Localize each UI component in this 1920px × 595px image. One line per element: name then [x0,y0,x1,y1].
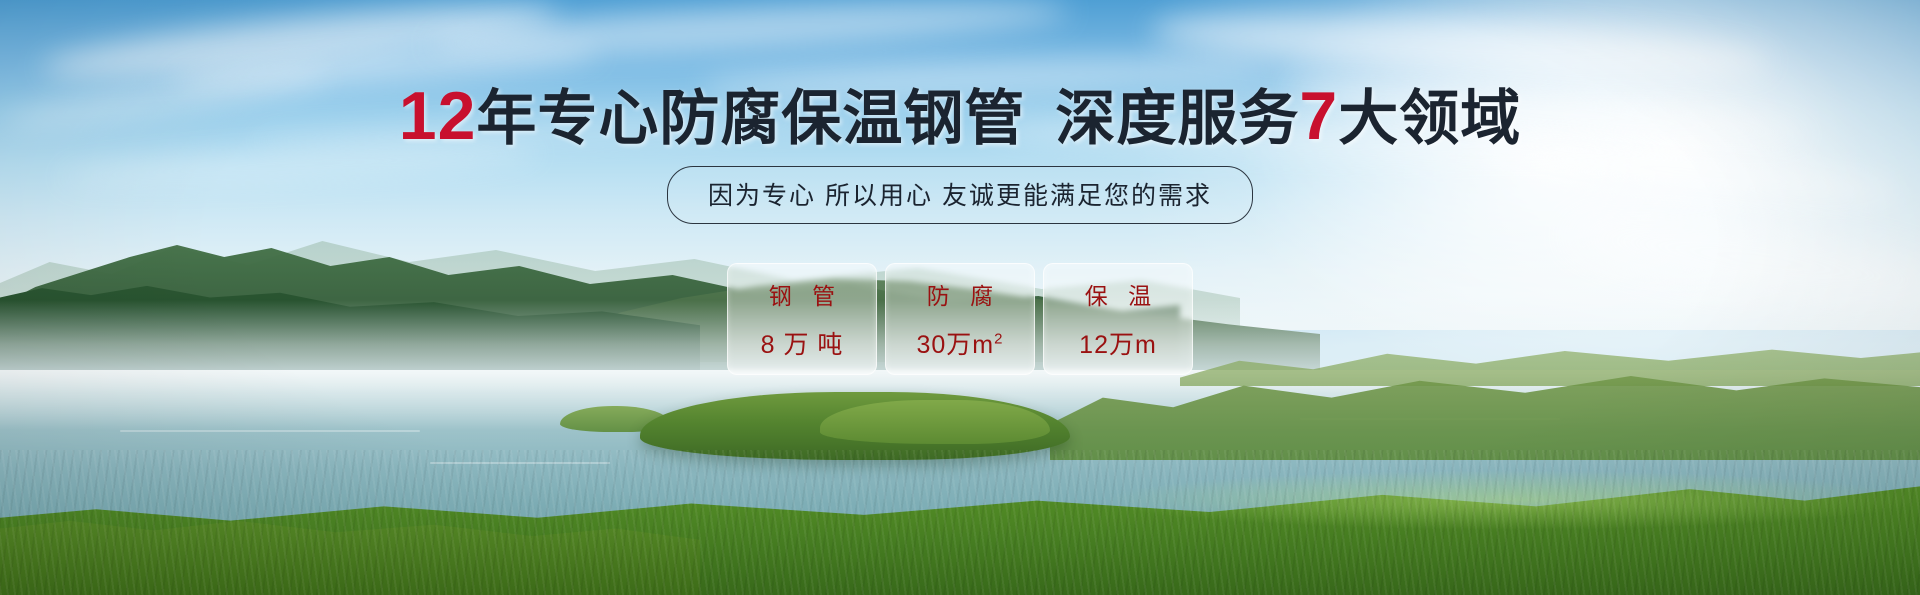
headline: 12年专心防腐保温钢管深度服务7大领域 [0,82,1920,150]
stat-card-label: 保 温 [1078,277,1158,311]
stat-card: 钢 管 8 万 吨 [727,263,877,375]
headline-text-secondary-suffix: 大领域 [1338,85,1521,152]
stat-card-label: 钢 管 [762,277,842,311]
stat-card-value-text: 12万m [1079,331,1157,359]
banner-content: 12年专心防腐保温钢管深度服务7大领域 因为专心 所以用心 友诚更能满足您的需求… [0,0,1920,595]
headline-text-primary: 年专心防腐保温钢管 [476,85,1025,152]
stat-card-label: 防 腐 [920,277,1000,311]
stat-card-value: 30万m2 [917,325,1004,361]
stat-card: 防 腐 30万m2 [885,263,1035,375]
promo-banner: 12年专心防腐保温钢管深度服务7大领域 因为专心 所以用心 友诚更能满足您的需求… [0,0,1920,595]
subtitle-container: 因为专心 所以用心 友诚更能满足您的需求 [0,166,1920,224]
stat-card-value-text: 8 万 吨 [761,331,844,359]
stat-card-value: 8 万 吨 [761,325,844,361]
stat-card-list: 钢 管 8 万 吨 防 腐 30万m2 保 温 12万m [0,263,1920,375]
stat-card: 保 温 12万m [1043,263,1193,375]
headline-number-primary: 12 [399,78,477,154]
headline-number-secondary: 7 [1299,78,1338,154]
stat-card-value: 12万m [1079,325,1157,361]
subtitle-pill: 因为专心 所以用心 友诚更能满足您的需求 [667,166,1253,224]
stat-card-value-text: 30万m [917,331,995,359]
headline-text-secondary-prefix: 深度服务 [1055,85,1299,152]
stat-card-value-sup: 2 [994,331,1003,348]
